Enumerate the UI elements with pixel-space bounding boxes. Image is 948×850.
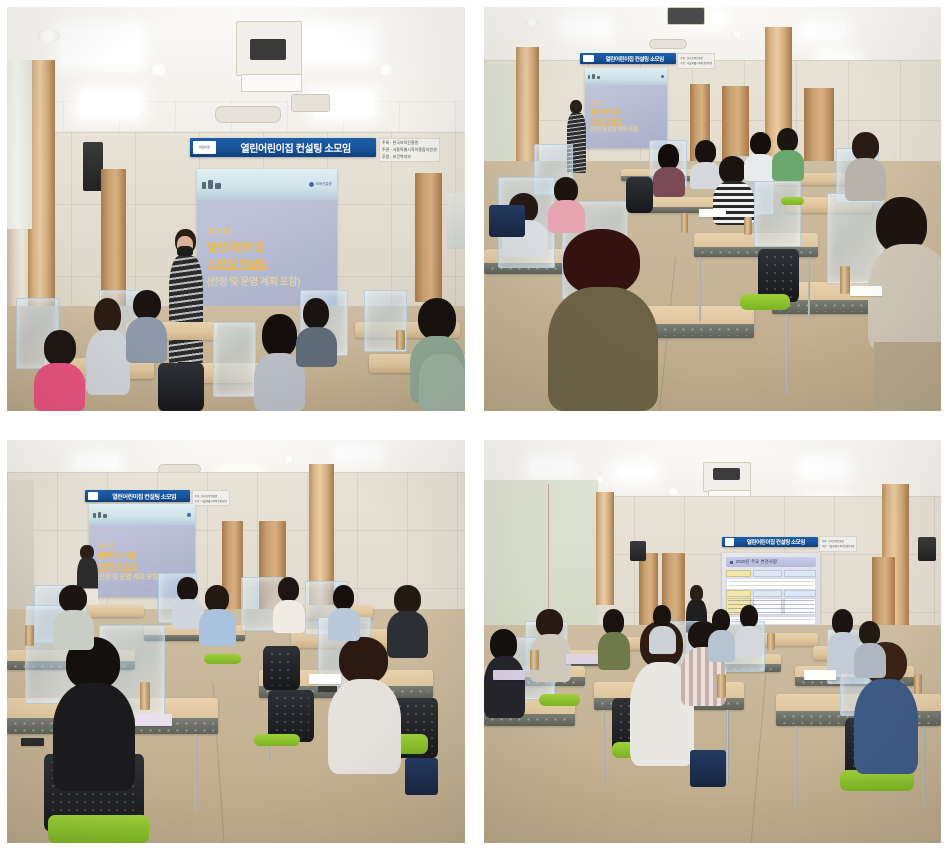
attendee-head [394,585,421,614]
handout [699,209,726,217]
photo-bottom-right[interactable]: 열린어린이집 컨설팅 소모임 주최 : 한국보육진흥원 주관 : 서울특별시육아… [484,440,941,843]
slide-header: 보육진흥원 [197,169,337,201]
attendee-head [658,144,679,169]
desk-leg [195,734,198,811]
slide-year: 2020년 [97,541,195,550]
desk-leg [786,314,789,395]
attendee-head [339,637,387,684]
attendee [85,298,131,395]
attendee-torso [653,167,685,196]
attendee [126,290,167,363]
attendee-head [94,298,121,333]
attendee-torso [328,608,360,642]
ceiling-downlight [282,456,295,462]
ceiling-panel-light [337,446,378,458]
handbag [690,750,727,786]
attendee-torso [598,632,630,669]
attendee-head [133,290,161,321]
attendee [708,609,735,661]
bullet-square-icon [730,561,733,564]
sponsor-line-2: 주관 : 서울특별시육아종합지원센터 [382,147,437,153]
ceiling-downlight [667,488,680,494]
chair-seat [204,654,241,664]
attendee-head [262,314,296,357]
slide-title-line3: (선정 및 운영 계획 포함) [590,125,667,133]
slide-title-line3: (선정 및 운영 계획 포함) [207,273,337,288]
ceiling-panel-light [617,466,654,478]
banner-title: 열린어린이집 컨설팅 소모임 [98,492,190,501]
door-right [872,557,895,630]
attendee-torso [708,630,735,661]
slide-table-row [726,590,816,597]
attendee [387,585,428,658]
attendee-head [603,609,624,634]
event-banner: 열린어린이집 컨설팅 소모임 [580,53,676,64]
attendee [34,330,84,411]
attendee-torso [86,330,130,395]
value-cell [753,570,782,577]
photo-top-left[interactable]: 어린이집 열린어린이집 컨설팅 소모임 주최 : 한국보육진흥원 주관 : 서울… [7,7,465,411]
logo-dot-icon [309,182,314,187]
handout [804,670,836,680]
desk-leg [699,257,701,322]
side-wall [7,480,34,609]
handbag [489,205,526,237]
attendee-torso [649,626,676,654]
building-icon [592,74,595,79]
chair-dot-pattern [763,253,794,298]
scene-top-left: 어린이집 열린어린이집 컨설팅 소모임 주최 : 한국보육진흥원 주관 : 서울… [7,7,465,411]
slide-year: 2020년 [590,100,667,107]
sponsor-line-2: 주관 : 서울특별시육아종합지원센터 [680,61,712,65]
attendee-torso [34,363,84,411]
attendee [735,605,762,657]
slide-title-line1: 열린어린이집 [590,107,667,116]
attendee-torso [484,656,525,718]
ceiling-panel-light [300,27,373,59]
attendee-head [278,577,299,602]
chair-seat [539,694,580,706]
institute-logo: 보육진흥원 [309,182,332,187]
house-icon [597,76,600,79]
water-bottle [681,213,688,233]
attendee-torso [126,317,167,362]
attendee-head [859,621,880,645]
attendee [328,585,360,641]
attendee-right [868,197,941,411]
institute-logo [661,75,664,78]
house-icon [103,514,107,518]
attendee [328,637,401,774]
slide-title-line2: 소모임 컨설팅 [590,116,667,125]
ceiling-vent [291,94,330,112]
attendee-torso [845,158,886,201]
window-blind [7,60,32,230]
attendee-torso [735,626,762,657]
scene-top-right: 열린어린이집 컨설팅 소모임 주최 : 한국보육진흥원 주관 : 서울특별시육아… [484,7,941,411]
value-cell [753,590,782,597]
attendee [273,577,305,633]
attendee-head [177,577,198,601]
water-bottle [744,217,751,235]
handout [493,670,525,680]
attendee-head [832,609,853,635]
institute-logo [187,513,191,517]
presenter-dress [169,256,203,365]
attendee [419,354,465,411]
slide-table-note [726,578,816,590]
smartphone [21,738,44,746]
chair-dot-pattern [273,694,309,738]
water-bottle [914,674,922,694]
attendee [649,605,676,653]
door-left [101,169,126,306]
attendee-head [205,585,229,612]
banner-logo [725,538,735,545]
value-cell [784,590,816,597]
chair-dot-pattern [268,650,295,686]
detail-cell [784,598,816,615]
logo-dot-icon [187,513,191,517]
desk-leg [923,726,926,807]
slide-header-icons [588,74,600,79]
attendee-torso [854,643,886,678]
ceiling-panel-light [62,27,140,63]
attendee-torso [854,679,918,775]
value-cell [784,570,816,577]
sponsor-line-1: 주최 : 한국보육진흥원 [822,539,854,543]
attendee-head [59,585,86,612]
acrylic-divider [754,181,802,248]
attendee [296,298,337,367]
banner-logo [583,55,594,62]
attendee [854,621,886,677]
attendee-torso [273,600,305,634]
house-icon [215,183,221,189]
attendee-torso [53,683,135,790]
event-banner: 어린이집 열린어린이집 컨설팅 소모임 [190,138,375,157]
ceiling-panel-light [804,460,845,474]
ceiling-panel-light [80,92,140,116]
sponsor-line-1: 주최 : 한국보육진흥원 [382,140,437,146]
presenter-hair [690,585,703,601]
scene-bottom-left: 열린어린이집 컨설팅 소모임 주최 : 한국보육진흥원 주관 : 서울특별시육아… [7,440,465,843]
attendee-torso [548,287,658,411]
water-bottle [396,330,405,350]
person-icon [202,182,206,189]
attendee [548,177,585,234]
sponsor-line-3: 후원 : 보건복지부 [382,154,437,160]
slide-table-header-text: 2020년 주요 변경사항 [736,559,778,565]
attendee-torso [199,609,236,645]
banner-sponsor-note: 주최 : 한국보육진흥원 주관 : 서울특별시육아종합지원센터 [819,536,857,551]
attendee-lower [874,342,941,411]
chair-seat [740,294,790,310]
attendee-head [852,132,879,161]
scene-bottom-right: 열린어린이집 컨설팅 소모임 주최 : 한국보육진흥원 주관 : 서울특별시육아… [484,440,941,843]
ceiling-panel-light [566,19,607,33]
projection-screen: 2020년 열린어린이집 소모임 컨설팅 (선정 및 운영 계획 포함) [585,68,667,149]
attendee-head [554,177,578,203]
ceiling-air-vent [215,106,281,123]
ceiling-downlight [149,64,169,76]
slide-title-line1: 열린어린이집 [207,239,337,255]
attendee-head [719,156,746,183]
projector-screen-housing [241,74,303,92]
projector-icon [713,468,740,480]
attendee [772,128,804,181]
banner-sponsor-note: 주최 : 한국보육진흥원 주관 : 서울특별시육아종합지원센터 후원 : 보건복… [379,138,440,162]
attendee-foreground [53,637,135,790]
attendee-head [333,585,354,610]
sponsor-line-2: 주관 : 서울특별시육아종합지원센터 [822,544,854,548]
handout [309,674,341,684]
slide-header [585,68,667,86]
attendee-torso [296,327,337,367]
attendee-torso [772,150,804,180]
chair-seat [48,815,149,843]
slide-title-line1: 열린어린이집 [97,550,195,561]
window-blind-cord [548,484,550,621]
ceiling-panel-light [530,460,571,474]
chair [626,177,653,213]
ceiling-panel-light [76,456,117,468]
row-label-cell [726,590,752,597]
photo-bottom-left[interactable]: 열린어린이집 컨설팅 소모임 주최 : 한국보육진흥원 주관 : 서울특별시육아… [7,440,465,843]
water-bottle [530,650,539,670]
event-banner: 열린어린이집 컨설팅 소모임 [722,537,818,547]
slide-body: 2020년 열린어린이집 소모임 컨설팅 (선정 및 운영 계획 포함) [585,85,667,148]
slide-title-line2: 소모임 컨설팅 [207,256,337,272]
slide-table-row [726,570,816,577]
water-bottle [717,674,726,698]
attendee-torso [868,244,941,351]
ceiling-air-vent [649,39,688,49]
attendee [653,144,685,197]
building-icon [98,512,101,518]
attendee-head [418,298,456,340]
banner-logo-label: 어린이집 [199,146,210,149]
row-label-cell [726,570,752,577]
person-icon [588,75,590,79]
attendee-head [563,229,640,294]
photo-grid: 어린이집 열린어린이집 컨설팅 소모임 주최 : 한국보육진흥원 주관 : 서울… [0,0,948,850]
banner-title: 열린어린이집 컨설팅 소모임 [594,55,676,63]
chair-seat [254,734,300,746]
wall-speaker-left [630,541,646,561]
attendee-head [712,609,730,632]
slide-table-header: 2020년 주요 변경사항 [726,557,816,566]
banner-title: 열린어린이집 컨설팅 소모임 [734,538,817,546]
wall-speaker-right [918,537,936,561]
water-bottle [767,633,774,649]
sponsor-line-1: 주최 : 한국보육진흥원 [680,56,712,60]
ceiling-downlight [376,64,395,75]
note-text-lines [729,581,813,587]
door-right [415,173,442,302]
attendee-torso [387,611,428,657]
ceiling-downlight [731,31,743,37]
smartphone [318,686,336,692]
slide-header-icons [93,512,107,518]
building-icon [208,180,213,189]
chair-seat [781,197,804,205]
attendee-head [740,605,758,628]
handout [135,714,172,726]
logo-text: 보육진흥원 [316,182,332,187]
attendee-head [777,128,798,152]
banner-logo: 어린이집 [193,141,215,154]
ceiling-downlight [37,29,60,43]
attendee-head [44,330,76,366]
desk-leg [726,710,729,783]
handout [566,654,598,664]
handout [850,286,882,296]
desk-leg [795,726,798,807]
attendee-torso [419,354,465,411]
person-icon [93,513,96,518]
projector-mount [667,7,706,25]
attendee-head [536,609,563,637]
banner-title: 열린어린이집 컨설팅 소모임 [216,140,376,155]
desk-leg [603,710,606,783]
door-glass-panel [447,193,465,250]
projector-icon [250,39,287,59]
attendee-head [303,298,329,330]
attendee-head [653,605,671,627]
water-bottle [25,625,34,645]
banner-sponsor-note: 주최 : 한국보육진흥원 주관 : 서울특별시육아종합지원센터 [192,490,230,506]
water-bottle [840,266,849,294]
desk-front [694,247,817,257]
attendee [199,585,236,645]
acrylic-divider [213,322,256,397]
sponsor-line-2: 주관 : 서울특별시육아종합지원센터 [195,499,227,503]
attendee [845,132,886,201]
desk-dot-pattern [643,326,749,336]
attendee-head [750,132,771,155]
slide-year: 2020년 [207,224,337,237]
wood-column-center [596,492,614,605]
attendee-torso [548,200,585,233]
chair [263,646,300,690]
attendee-foreground [548,229,658,411]
event-banner: 열린어린이집 컨설팅 소모임 [85,490,190,501]
backpack [405,758,437,794]
photo-top-right[interactable]: 열린어린이집 컨설팅 소모임 주최 : 한국보육진흥원 주관 : 서울특별시육아… [484,7,941,411]
slide-header-icons [202,180,221,189]
ceiling-panel-light [804,23,845,37]
logo-dot-icon [661,75,664,78]
slide-header [89,504,194,524]
attendee-torso [328,679,401,775]
water-bottle [140,682,150,710]
attendee [53,585,94,649]
attendee [598,609,630,669]
sponsor-line-1: 주최 : 한국보육진흥원 [195,494,227,498]
slide-title-line2: 소모임 컨설팅 [97,561,195,572]
ceiling-downlight [525,19,539,25]
attendee-torso [53,610,94,650]
attendee [530,609,571,682]
chair [158,363,204,411]
banner-logo [88,492,99,500]
banner-sponsor-note: 주최 : 한국보육진흥원 주관 : 서울특별시육아종합지원센터 [677,53,715,69]
